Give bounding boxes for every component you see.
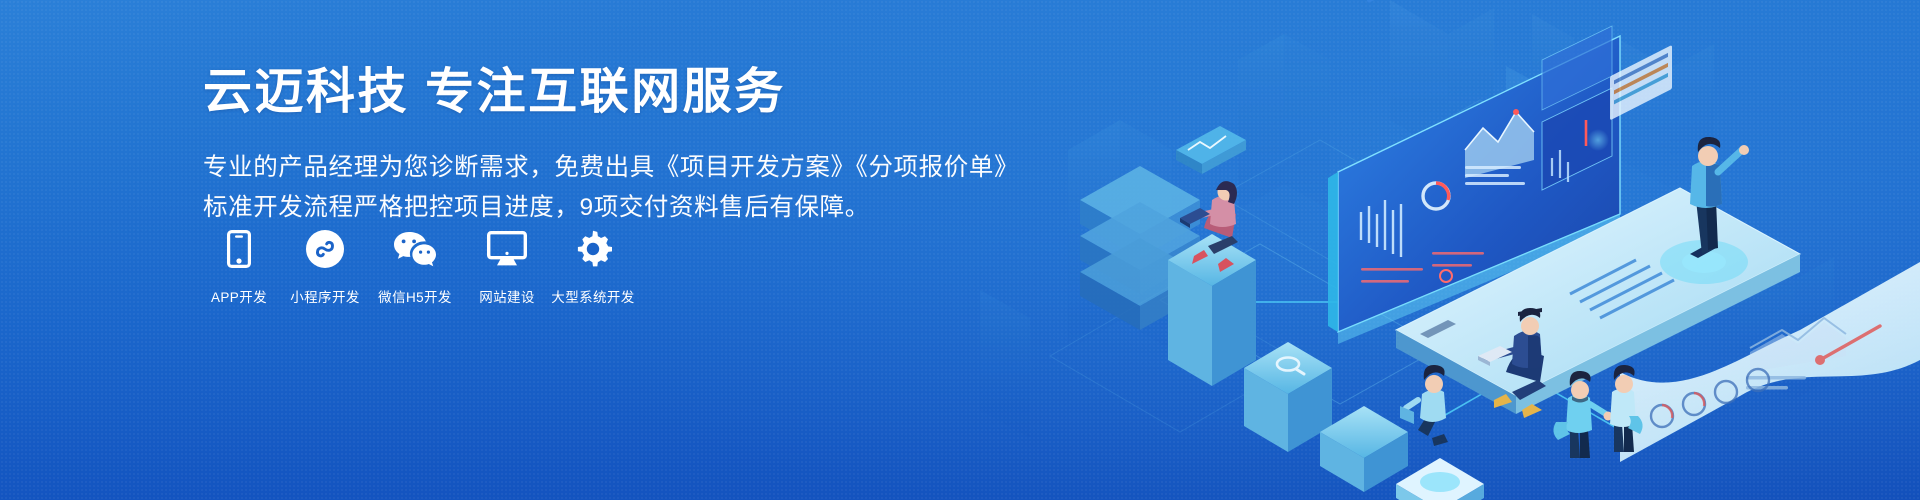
dashboard-screen — [1328, 0, 1620, 344]
server-stack — [1080, 166, 1200, 330]
person-presenting — [1690, 137, 1749, 258]
gear-icon — [574, 228, 612, 270]
dashboard-cards — [1361, 0, 1612, 283]
hero-copy: 云迈科技 专注互联网服务 专业的产品经理为您诊断需求，免费出具《项目开发方案》《… — [203, 64, 923, 227]
service-label-large-system: 大型系统开发 — [551, 286, 634, 306]
service-label-mini-program: 小程序开发 — [290, 286, 360, 306]
service-list: APP开发 小程序开发 — [203, 228, 629, 306]
page-title: 云迈科技 专注互联网服务 — [203, 64, 923, 122]
chat-bubble-chart — [1176, 126, 1246, 174]
service-item-large-system[interactable]: 大型系统开发 — [557, 228, 629, 306]
person-on-laptop — [1478, 308, 1546, 418]
stair-step-blocks — [1168, 234, 1484, 500]
mobile-phone-icon — [227, 228, 251, 270]
service-item-wechat-h5[interactable]: 微信H5开发 — [379, 228, 451, 306]
service-label-app: APP开发 — [211, 286, 267, 306]
monitor-icon — [487, 228, 527, 270]
tablet-platform — [1396, 188, 1800, 414]
background-city-blocks — [980, 0, 1834, 438]
hero-banner: 云迈科技 专注互联网服务 专业的产品经理为您诊断需求，免费出具《项目开发方案》《… — [0, 0, 1920, 500]
service-item-mini-program[interactable]: 小程序开发 — [289, 228, 361, 306]
subtitle-line-1: 专业的产品经理为您诊断需求，免费出具《项目开发方案》《分项报价单》 — [203, 148, 923, 188]
glow-path — [1220, 302, 1620, 430]
service-item-app[interactable]: APP开发 — [203, 228, 275, 306]
hero-subtitle: 专业的产品经理为您诊断需求，免费出具《项目开发方案》《分项报价单》 标准开发流程… — [203, 148, 923, 227]
subtitle-line-2: 标准开发流程严格把控项目进度，9项交付资料售后有保障。 — [203, 188, 923, 228]
data-report-sheet — [1610, 45, 1920, 462]
iso-grid-lines — [1050, 100, 1620, 432]
service-label-website: 网站建设 — [479, 286, 535, 306]
service-item-website[interactable]: 网站建设 — [471, 228, 543, 306]
wechat-icon — [393, 228, 437, 270]
isometric-illustration — [920, 0, 1920, 500]
person-walking-steps — [1400, 365, 1448, 446]
two-people-talking — [1553, 365, 1642, 458]
woman-with-laptop — [1180, 181, 1238, 272]
service-label-wechat-h5: 微信H5开发 — [378, 286, 452, 306]
mini-program-icon — [306, 228, 344, 270]
